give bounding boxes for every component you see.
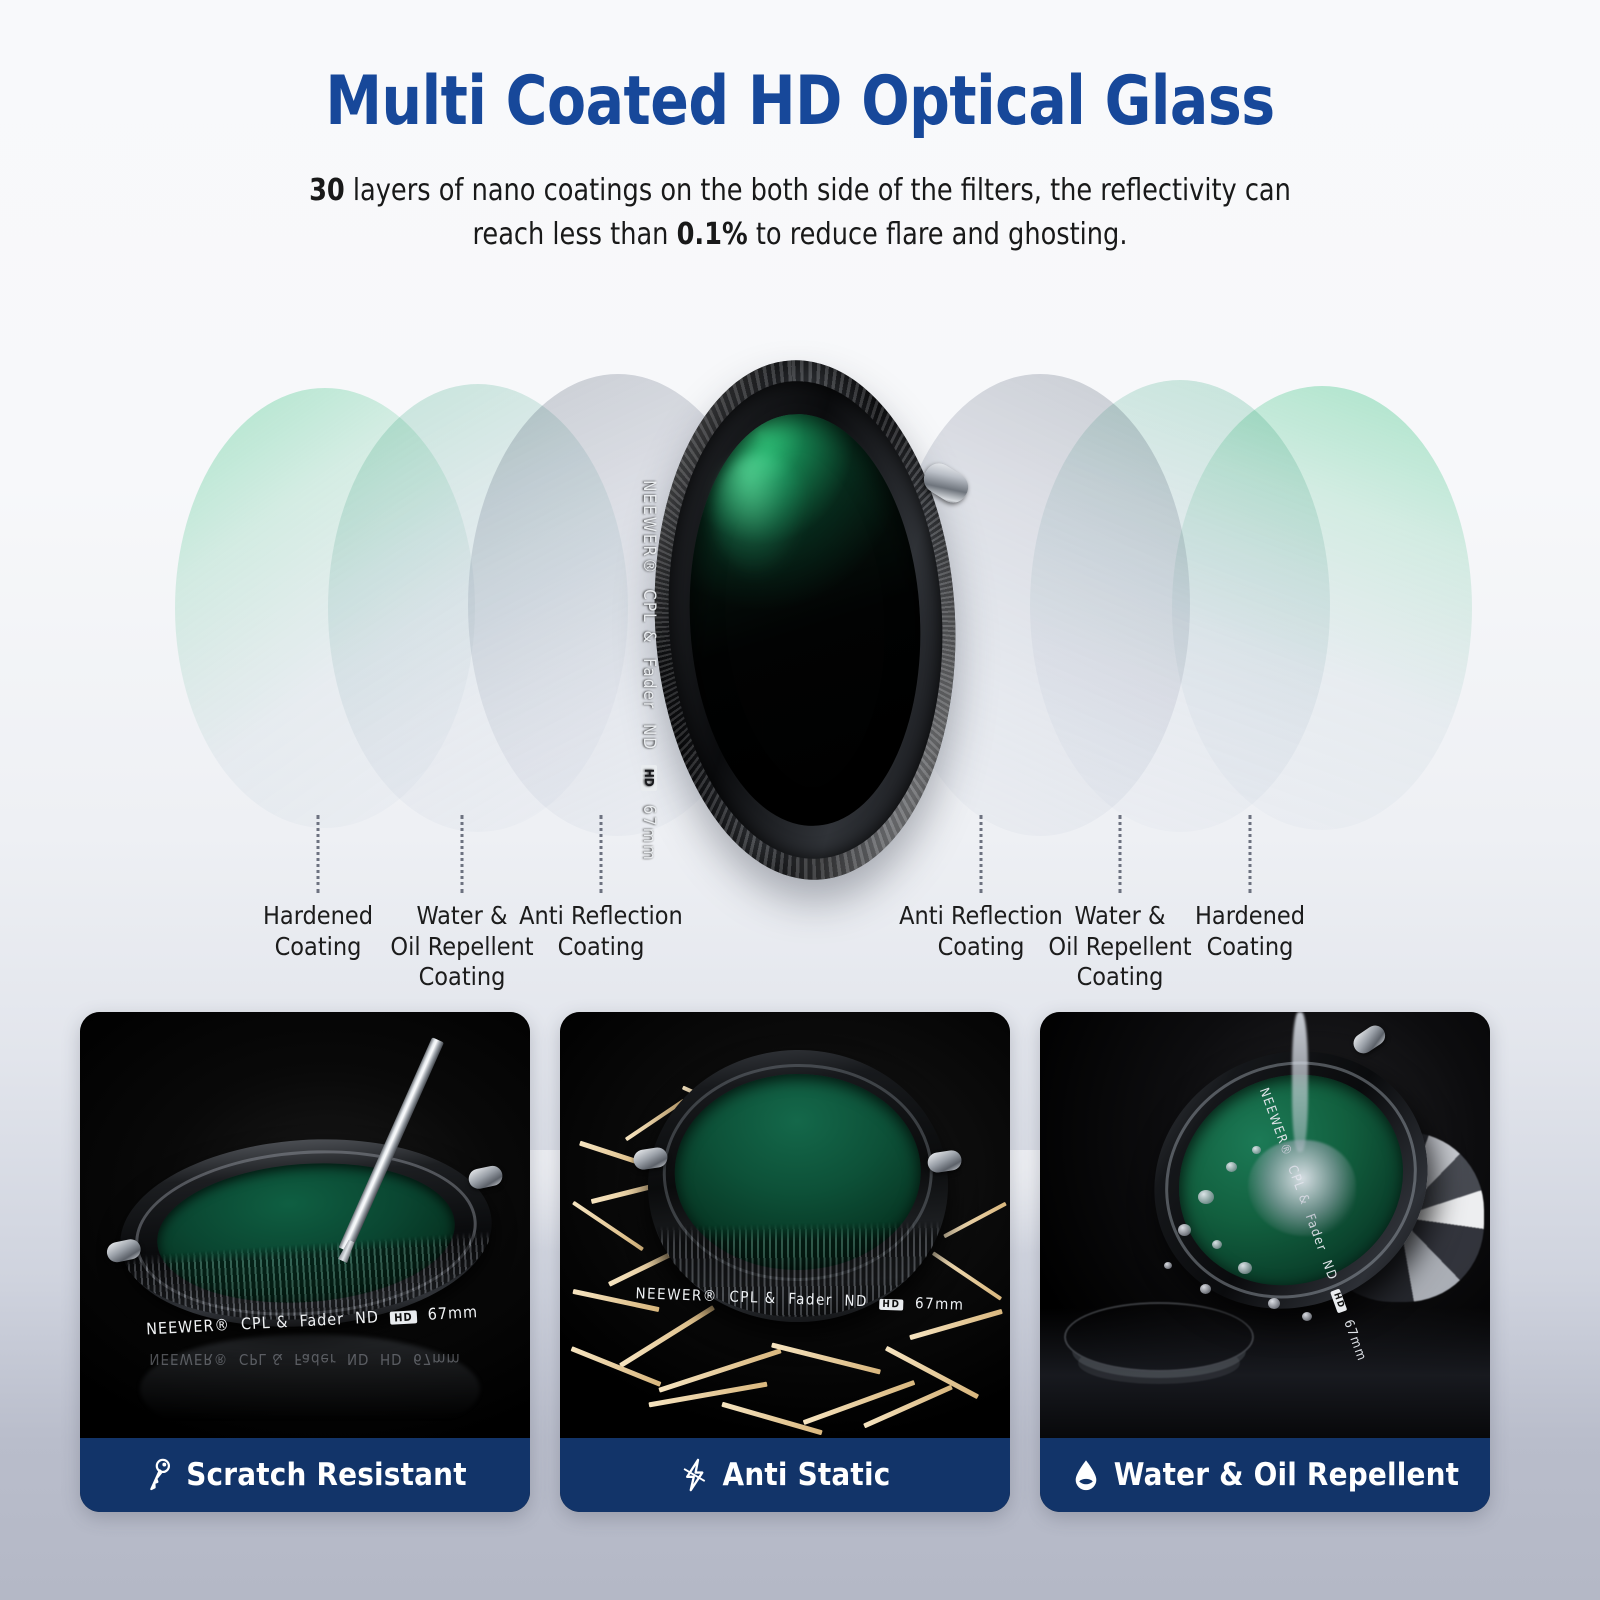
infographic-page: Multi Coated HD Optical Glass 30 layers … <box>0 0 1600 1600</box>
lightning-bolt-icon <box>680 1458 710 1492</box>
callout-label: Anti Reflection Coating <box>899 901 1063 962</box>
feature-label: Scratch Resistant <box>186 1457 467 1493</box>
callout-label: Hardened Coating <box>263 901 373 962</box>
water-droplet <box>1164 1262 1172 1269</box>
leader-line <box>1119 815 1122 893</box>
water-droplet <box>1226 1162 1237 1172</box>
engraving-reflection: NEEWER® CPL & Fader ND HD 67mm <box>149 1350 460 1368</box>
water-droplet <box>1302 1312 1312 1321</box>
callout-label: Water & Oil Repellent Coating <box>390 901 533 993</box>
water-drop-icon <box>1071 1458 1101 1492</box>
key-icon <box>143 1458 173 1492</box>
water-stream <box>1292 1012 1308 1152</box>
water-droplet <box>1212 1240 1222 1249</box>
water-droplet <box>1252 1146 1261 1154</box>
leader-line <box>461 815 464 893</box>
water-repellent-photo: NEEWER® CPL & Fader ND HD 67mm <box>1040 1012 1490 1458</box>
leader-line <box>317 815 320 893</box>
hd-badge: HD <box>390 1310 417 1324</box>
feature-bar-anti-static[interactable]: Anti Static <box>560 1438 1010 1512</box>
water-droplet <box>1268 1298 1280 1309</box>
water-splash <box>1248 1140 1356 1236</box>
feature-label: Water & Oil Repellent <box>1114 1457 1459 1493</box>
leader-line <box>980 815 983 893</box>
feature-bar-water-oil-repellent[interactable]: Water & Oil Repellent <box>1040 1438 1490 1512</box>
water-droplet <box>1200 1284 1211 1294</box>
feature-card-water-oil-repellent[interactable]: NEEWER® CPL & Fader ND HD 67mm <box>1040 1012 1490 1512</box>
callout-label: Anti Reflection Coating <box>519 901 683 962</box>
water-droplet <box>1198 1190 1214 1204</box>
scratch-resistant-photo: NEEWER® CPL & Fader ND HD 67mm NEEWER® C… <box>80 1012 530 1458</box>
feature-card-anti-static[interactable]: NEEWER® CPL & Fader ND HD 67mm Anti Stat… <box>560 1012 1010 1512</box>
feature-cards: NEEWER® CPL & Fader ND HD 67mm NEEWER® C… <box>0 1012 1600 1532</box>
callout-label: Water & Oil Repellent Coating <box>1048 901 1191 993</box>
anti-static-photo: NEEWER® CPL & Fader ND HD 67mm <box>560 1012 1010 1458</box>
hd-badge: HD <box>879 1299 903 1311</box>
callout-label: Hardened Coating <box>1195 901 1305 962</box>
feature-bar-scratch-resistant[interactable]: Scratch Resistant <box>80 1438 530 1512</box>
feature-card-scratch-resistant[interactable]: NEEWER® CPL & Fader ND HD 67mm NEEWER® C… <box>80 1012 530 1512</box>
water-droplet <box>1238 1262 1252 1274</box>
leader-line <box>600 815 603 893</box>
leader-line <box>1249 815 1252 893</box>
feature-label: Anti Static <box>723 1457 891 1493</box>
water-ripple <box>1064 1302 1254 1372</box>
water-droplet <box>1178 1224 1191 1236</box>
